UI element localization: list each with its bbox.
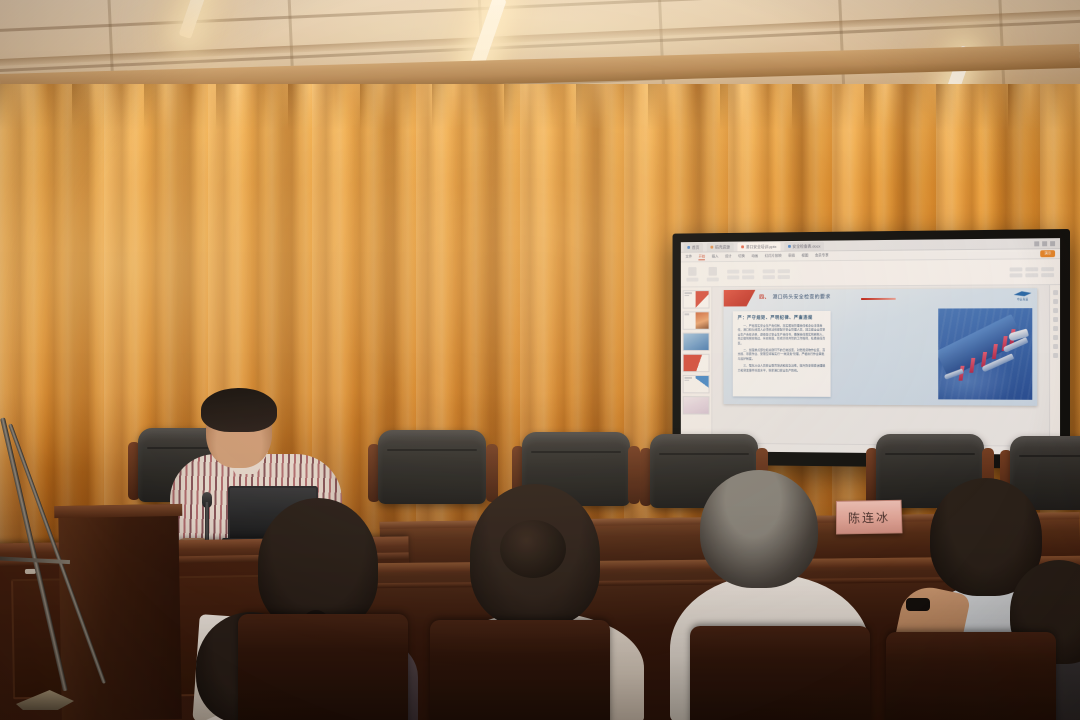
ribbon-tab-file[interactable]: 文件 bbox=[685, 255, 692, 260]
ribbon-group-clipboard[interactable] bbox=[686, 267, 698, 282]
camera-tripod-stand bbox=[0, 418, 114, 718]
slide-red-flag-decoration bbox=[724, 290, 756, 307]
image-icon[interactable] bbox=[1053, 308, 1058, 313]
current-slide[interactable]: 四、港口码头安全检查的要求 中远海运 严：严守规矩、严明纪律、严查违规 一、严格… bbox=[724, 288, 1037, 406]
paste-icon[interactable] bbox=[688, 267, 696, 276]
wall-mounted-display[interactable]: 首页 稻壳资源 港口安全培训.pptx 安全检查表.docx bbox=[673, 229, 1070, 469]
attendee-hair-bun bbox=[500, 520, 566, 578]
more-icon[interactable] bbox=[1053, 353, 1058, 358]
slide-paragraph: 三、强化从业人员安全教育培训和应急演练，提升隐患排查治理能力和突发事件处置水平，… bbox=[738, 364, 826, 373]
slide-body-heading: 严：严守规矩、严明纪律、严查违规 bbox=[738, 315, 826, 321]
audience-chair[interactable] bbox=[690, 626, 870, 720]
ribbon-tab-insert[interactable]: 插入 bbox=[712, 254, 719, 259]
slide-title: 四、港口码头安全检查的要求 bbox=[759, 293, 830, 300]
right-tool-rail[interactable] bbox=[1049, 285, 1060, 455]
slide-paragraph: 二、加强重点部位和关键环节的日常巡查，对危险货物作业区、高支模、吊装作业、受限空… bbox=[738, 348, 826, 361]
ribbon-tab-slideshow[interactable]: 幻灯片放映 bbox=[765, 254, 782, 259]
close-icon[interactable] bbox=[1050, 241, 1055, 246]
ribbon-tab-member[interactable]: 会员专享 bbox=[815, 253, 829, 258]
executive-chair[interactable] bbox=[368, 430, 498, 510]
logo-swoosh-icon bbox=[1014, 291, 1032, 296]
ribbon-tab-design[interactable]: 设计 bbox=[725, 254, 732, 259]
slide-thumbnail[interactable] bbox=[683, 333, 710, 351]
conference-room-photo: 首页 稻壳资源 港口安全培训.pptx 安全检查表.docx bbox=[0, 0, 1080, 720]
port-terminal-photo bbox=[938, 308, 1032, 400]
wristwatch-icon bbox=[906, 598, 930, 611]
ribbon-group-editing[interactable] bbox=[1010, 267, 1054, 277]
audience-chair[interactable] bbox=[238, 614, 408, 720]
slide-thumbnail[interactable] bbox=[683, 354, 710, 372]
window-controls[interactable] bbox=[1034, 241, 1057, 246]
display-screen-content[interactable]: 首页 稻壳资源 港口安全培训.pptx 安全检查表.docx bbox=[681, 238, 1060, 455]
ribbon-tab-view[interactable]: 视图 bbox=[802, 253, 809, 258]
nameplate-text: 陈连冰 bbox=[848, 508, 890, 526]
ribbon-group-slides[interactable] bbox=[707, 267, 719, 282]
maximize-icon[interactable] bbox=[1042, 241, 1047, 246]
share-icon[interactable] bbox=[1053, 344, 1058, 349]
attendee-head bbox=[700, 470, 818, 588]
ribbon-tab-animation[interactable]: 动画 bbox=[751, 254, 758, 259]
desk-nameplate: 陈连冰 bbox=[836, 500, 903, 535]
chart-icon[interactable] bbox=[1053, 326, 1058, 331]
ribbon-group-font[interactable] bbox=[727, 269, 754, 279]
ribbon-command-area[interactable] bbox=[681, 259, 1060, 287]
app-tab-active[interactable]: 港口安全培训.pptx bbox=[737, 242, 780, 251]
slide-thumbnail-current[interactable] bbox=[683, 396, 710, 414]
slide-editing-stage[interactable]: 四、港口码头安全检查的要求 中远海运 严：严守规矩、严明纪律、严查违规 一、严格… bbox=[712, 285, 1049, 455]
minimize-icon[interactable] bbox=[1034, 241, 1039, 246]
ribbon-tab-transition[interactable]: 切换 bbox=[738, 254, 745, 259]
cloud-icon[interactable] bbox=[1053, 335, 1058, 340]
presenter-hair bbox=[201, 388, 277, 432]
slide-thumbnail[interactable] bbox=[683, 375, 710, 393]
audience-chair[interactable] bbox=[886, 632, 1056, 720]
shapes-icon[interactable] bbox=[1053, 299, 1058, 304]
ribbon-tab-review[interactable]: 审阅 bbox=[788, 254, 795, 259]
present-button[interactable]: 演示 bbox=[1040, 250, 1055, 257]
design-ideas-icon[interactable] bbox=[1053, 290, 1058, 295]
slide-paragraph: 一、严格落实安全生产责任制，压实属地管理责任和企业主体责任，港口码头经营人必须依… bbox=[738, 324, 826, 346]
app-tab[interactable]: 稻壳资源 bbox=[707, 242, 734, 251]
app-tab[interactable]: 安全检查表.docx bbox=[784, 241, 824, 250]
new-slide-icon[interactable] bbox=[709, 267, 717, 276]
slide-title-underline bbox=[861, 298, 896, 300]
audience-chair[interactable] bbox=[430, 620, 610, 720]
slide-text-card: 严：严守规矩、严明纪律、严查违规 一、严格落实安全生产责任制，压实属地管理责任和… bbox=[733, 311, 831, 397]
slide-thumbnail[interactable] bbox=[683, 311, 710, 329]
ribbon-tab-home[interactable]: 开始 bbox=[699, 254, 706, 260]
company-logo: 中远海运 bbox=[1012, 291, 1033, 302]
slide-thumbnail[interactable] bbox=[683, 290, 710, 308]
slide-thumbnail-pane[interactable] bbox=[681, 287, 712, 451]
ribbon-group-paragraph[interactable] bbox=[763, 269, 790, 279]
app-tab[interactable]: 首页 bbox=[684, 242, 703, 251]
text-icon[interactable] bbox=[1053, 317, 1058, 322]
